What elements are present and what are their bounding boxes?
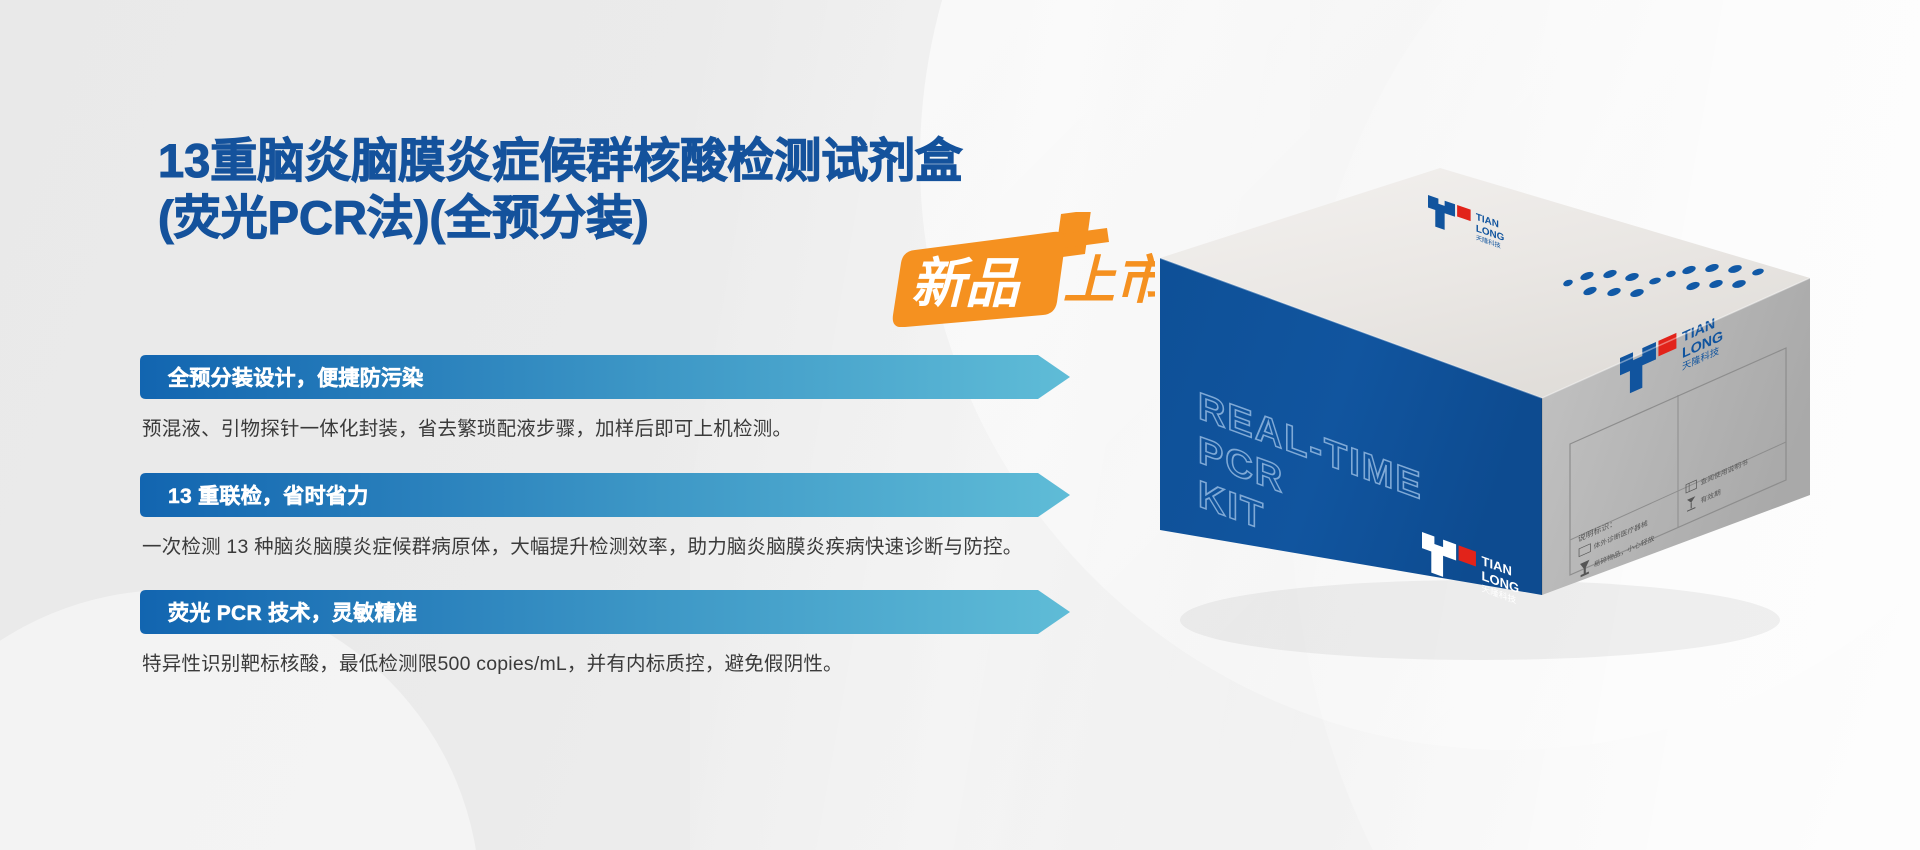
badge-text-plain: 上市: [1063, 252, 1155, 310]
feature-item: 荧光 PCR 技术，灵敏精准 特异性识别靶标核酸，最低检测限500 copies…: [140, 590, 1070, 682]
title-line-2: (荧光PCR法)(全预分装): [158, 189, 962, 246]
feature-item: 全预分装设计，便捷防污染 预混液、引物探针一体化封装，省去繁琐配液步骤，加样后即…: [140, 355, 1070, 447]
feature-list: 全预分装设计，便捷防污染 预混液、引物探针一体化封装，省去繁琐配液步骤，加样后即…: [140, 355, 1070, 686]
feature-body-text: 一次检测 13 种脑炎脑膜炎症候群病原体，大幅提升检测效率，助力脑炎脑膜炎疾病快…: [142, 531, 1047, 565]
title-line-1: 13重脑炎脑膜炎症候群核酸检测试剂盒: [158, 132, 962, 189]
feature-heading-text: 13 重联检，省时省力: [168, 473, 369, 517]
feature-heading-text: 荧光 PCR 技术，灵敏精准: [168, 590, 417, 634]
box-shadow: [1180, 580, 1780, 660]
product-banner: 13重脑炎脑膜炎症候群核酸检测试剂盒 (荧光PCR法)(全预分装) 新品 上市: [0, 0, 1920, 850]
feature-heading-bar: 全预分装设计，便捷防污染: [140, 355, 1070, 399]
page-title: 13重脑炎脑膜炎症候群核酸检测试剂盒 (荧光PCR法)(全预分装): [158, 132, 962, 247]
feature-heading-bar: 13 重联检，省时省力: [140, 473, 1070, 517]
feature-body-text: 特异性识别靶标核酸，最低检测限500 copies/mL，并有内标质控，避免假阴…: [142, 648, 1047, 682]
product-box-image: TIAN LONG 天隆科技 REAL-TIME PCR KIT TIAN LO…: [1150, 150, 1850, 730]
feature-heading-text: 全预分装设计，便捷防污染: [168, 355, 424, 399]
new-product-badge: 新品 上市: [885, 212, 1155, 327]
feature-heading-bar: 荧光 PCR 技术，灵敏精准: [140, 590, 1070, 634]
feature-body-text: 预混液、引物探针一体化封装，省去繁琐配液步骤，加样后即可上机检测。: [142, 413, 1047, 447]
badge-text-boxed: 新品: [911, 254, 1021, 314]
feature-item: 13 重联检，省时省力 一次检测 13 种脑炎脑膜炎症候群病原体，大幅提升检测效…: [140, 473, 1070, 565]
